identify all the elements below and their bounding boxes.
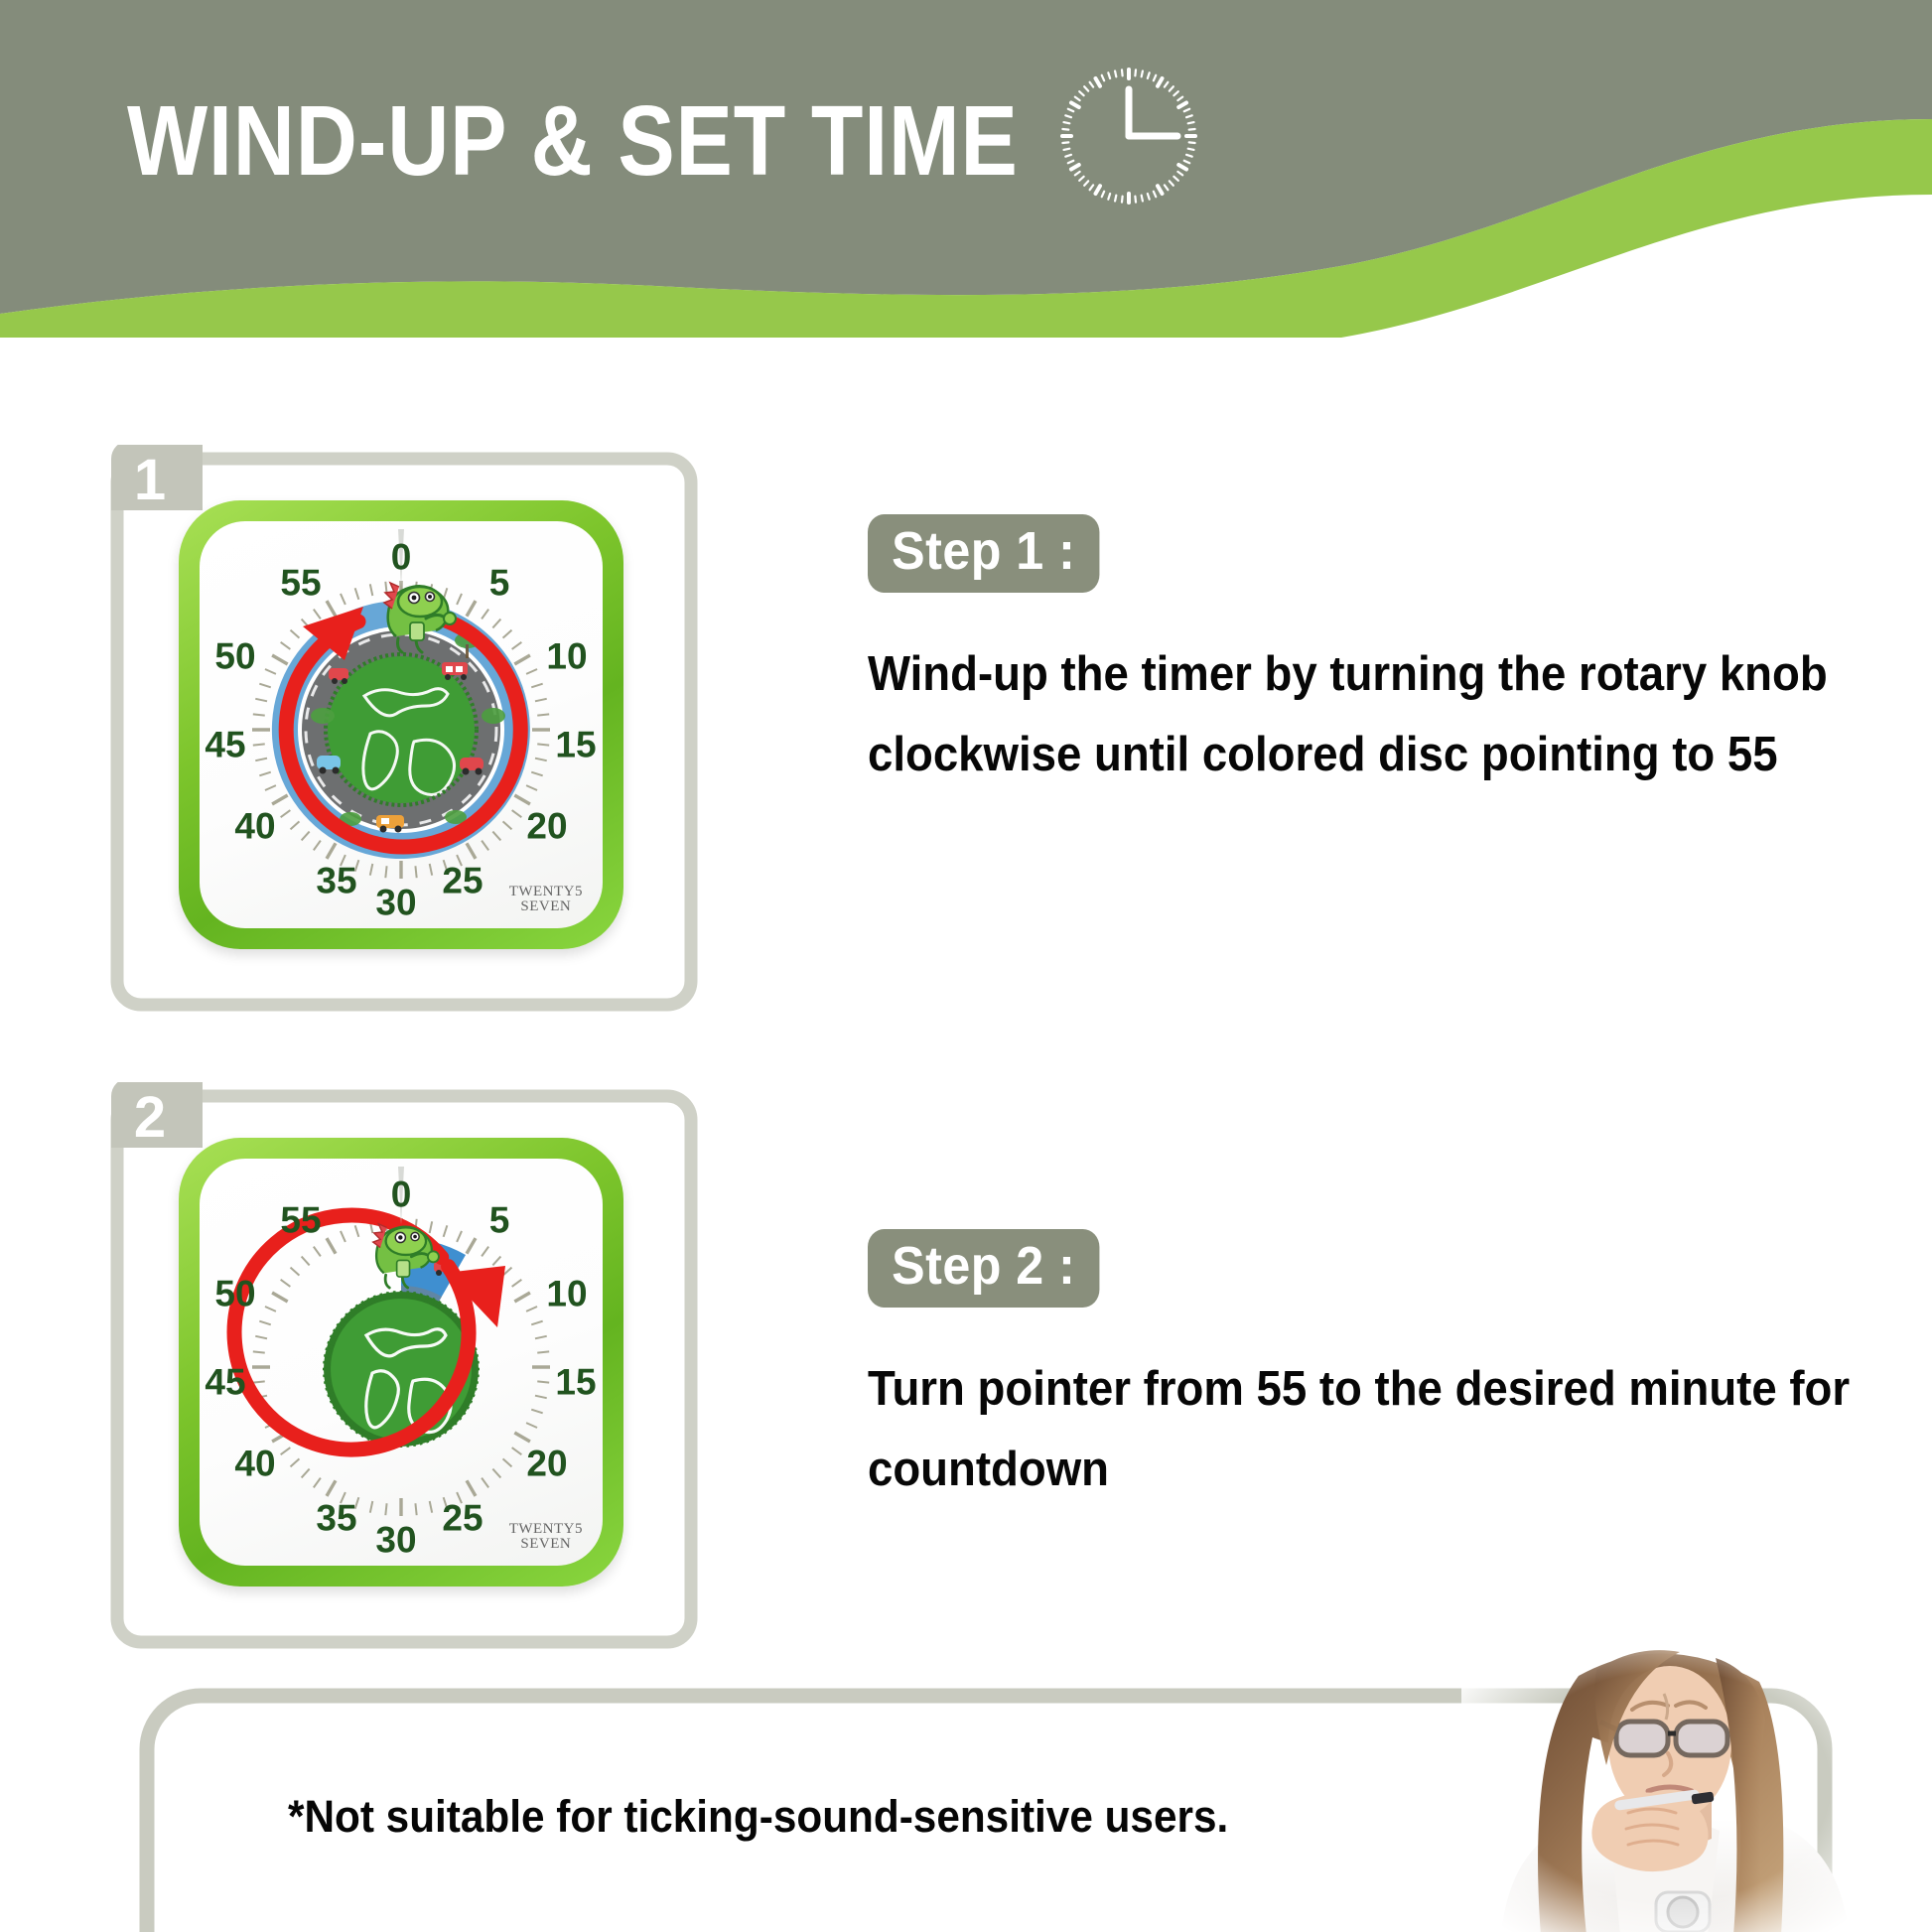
woman-with-glasses-thinking-photo (1461, 1636, 1878, 1932)
brand-line-1: TWENTY5 (509, 1522, 583, 1537)
dial-number-20: 20 (526, 1446, 567, 1482)
dial-number-5: 5 (489, 565, 510, 602)
dial-number-55: 55 (280, 565, 321, 602)
dial-number-10: 10 (546, 638, 587, 675)
dial-number-55: 55 (280, 1202, 321, 1239)
brand-line-1: TWENTY5 (509, 885, 583, 899)
dial-number-50: 50 (214, 1276, 255, 1312)
timer-face: TWENTY5 SEVEN 0 5 10 15 20 25 30 35 40 4… (200, 521, 603, 928)
dial-number-25: 25 (442, 863, 483, 899)
dial-number-35: 35 (316, 1500, 356, 1537)
brand-logo: TWENTY5 SEVEN (509, 885, 583, 914)
dial-number-35: 35 (316, 863, 356, 899)
timer-dial (200, 1159, 603, 1566)
dial-number-50: 50 (214, 638, 255, 675)
header-band: WIND-UP & SET TIME (0, 0, 1932, 338)
dial-number-40: 40 (234, 1446, 275, 1482)
dial-number-25: 25 (442, 1500, 483, 1537)
step-number-badge: 1 (119, 451, 181, 510)
infographic-page: WIND-UP & SET TIME 1 (0, 0, 1932, 1932)
step-2-text-block: Step 2 : Turn pointer from 55 to the des… (868, 1229, 1880, 1509)
brand-line-2: SEVEN (509, 899, 583, 914)
dial-number-20: 20 (526, 808, 567, 845)
step-1-label: Step 1 : (868, 514, 1099, 593)
dial-number-40: 40 (234, 808, 275, 845)
page-title: WIND-UP & SET TIME (127, 91, 1019, 191)
dial-number-5: 5 (489, 1202, 510, 1239)
dial-number-30: 30 (375, 1522, 416, 1559)
step-1-text-block: Step 1 : Wind-up the timer by turning th… (868, 514, 1880, 794)
dial-number-0: 0 (391, 1176, 412, 1213)
step-2-body: Turn pointer from 55 to the desired minu… (868, 1349, 1874, 1510)
step-number-badge: 2 (119, 1088, 181, 1148)
step-card-2: 2 (97, 1082, 711, 1658)
dial-number-45: 45 (205, 1364, 245, 1401)
timer-device-step2[interactable]: TWENTY5 SEVEN 0 5 10 15 20 25 30 35 40 4… (179, 1138, 623, 1587)
brand-logo: TWENTY5 SEVEN (509, 1522, 583, 1552)
footer-disclaimer: *Not suitable for ticking-sound-sensitiv… (288, 1791, 1228, 1843)
brand-line-2: SEVEN (509, 1537, 583, 1552)
dial-number-30: 30 (375, 885, 416, 921)
dial-number-15: 15 (555, 727, 596, 763)
footer-note-card: *Not suitable for ticking-sound-sensitiv… (139, 1688, 1833, 1932)
dial-number-45: 45 (205, 727, 245, 763)
dial-number-10: 10 (546, 1276, 587, 1312)
timer-dial (200, 521, 603, 928)
timer-face: TWENTY5 SEVEN 0 5 10 15 20 25 30 35 40 4… (200, 1159, 603, 1566)
timer-device-step1[interactable]: TWENTY5 SEVEN 0 5 10 15 20 25 30 35 40 4… (179, 500, 623, 949)
clock-icon (1054, 62, 1203, 210)
dial-number-15: 15 (555, 1364, 596, 1401)
step-2-label: Step 2 : (868, 1229, 1099, 1308)
dial-number-0: 0 (391, 539, 412, 576)
step-card-1: 1 (97, 445, 711, 1021)
step-1-body: Wind-up the timer by turning the rotary … (868, 634, 1874, 795)
